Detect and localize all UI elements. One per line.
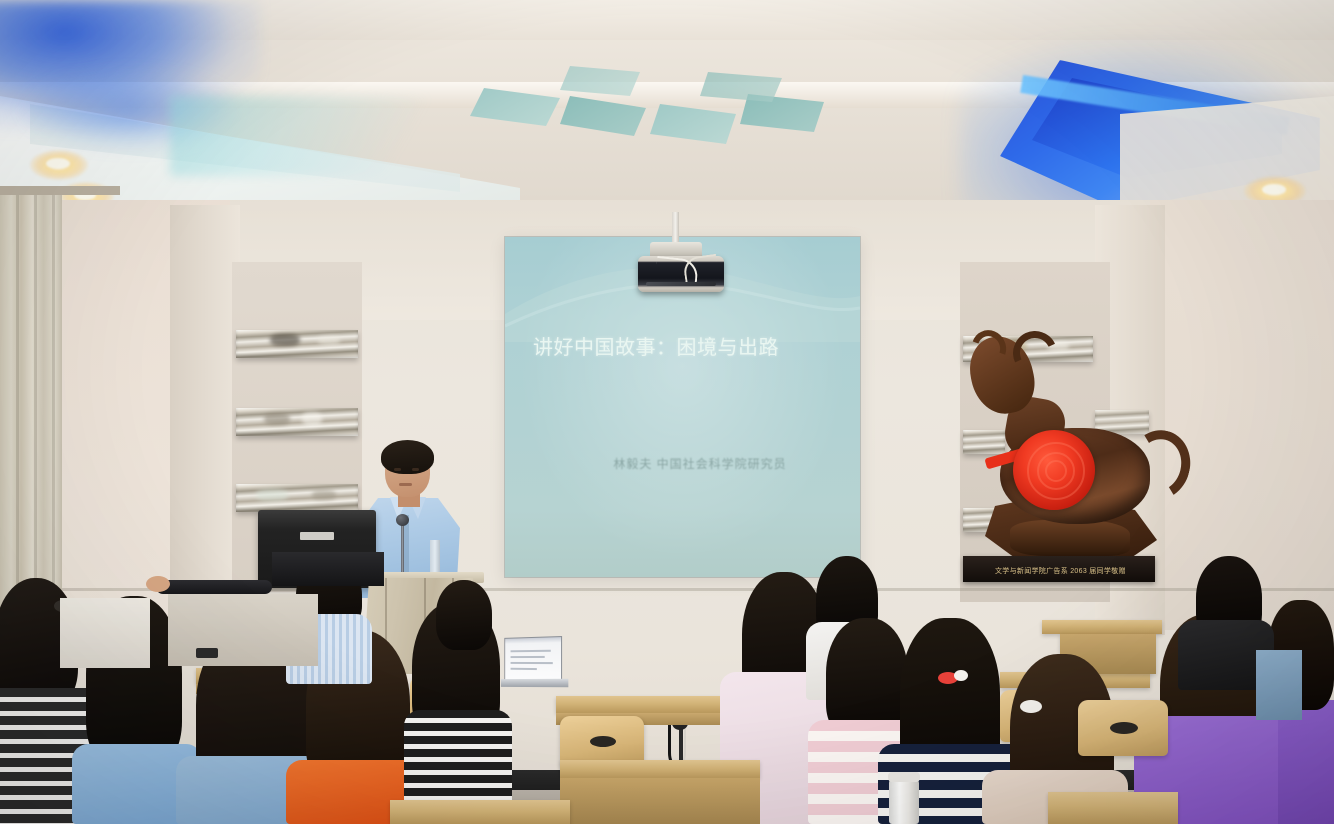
lecture-hall-photo: 讲好中国故事：困境与出路 林毅夫 中国社会科学院研究员 文学与新闻学院广告系 2… <box>0 0 1334 824</box>
audience-arm-left <box>156 580 272 594</box>
hair-clip-white <box>954 670 968 681</box>
chrome-shelf-3 <box>236 484 358 512</box>
chair-row2-right[interactable] <box>1078 700 1168 756</box>
plaque-inscription: 文学与新闻学院广告系 2063 届同学敬赠 <box>995 566 1145 578</box>
stage-panel-vent <box>196 648 218 658</box>
chrome-shelf-2 <box>236 408 358 436</box>
curtain-rod <box>0 186 120 195</box>
slide-title: 讲好中国故事：困境与出路 <box>533 331 833 361</box>
speaker-eye-right <box>412 468 419 471</box>
chrome-shelf-1 <box>236 330 358 358</box>
speaker-eye-left <box>394 468 401 471</box>
slide-subtitle: 林毅夫 中国社会科学院研究员 <box>575 455 825 473</box>
stage-front-panel <box>168 594 318 666</box>
desk-front-left <box>390 800 570 824</box>
chrome-shelf-5 <box>963 430 1005 454</box>
student-laptop-screen <box>504 636 562 684</box>
speaker-hair <box>381 440 434 474</box>
cove-light-cyan-left <box>170 96 500 176</box>
white-thermos <box>889 778 919 824</box>
speaker-mouth <box>399 483 412 486</box>
hair-clip-white-2 <box>1020 700 1042 713</box>
audience-torso-back-left <box>272 552 384 586</box>
monitor-badge <box>300 532 334 540</box>
sculpture-wood-base-detail <box>1010 520 1130 556</box>
projector-mount-pole <box>672 212 679 246</box>
desk-far-right <box>1042 620 1162 634</box>
audience-hand-left <box>146 576 170 592</box>
desk-front-right <box>1048 792 1178 824</box>
thermos-cap <box>888 772 920 782</box>
desk-front-center <box>560 760 760 778</box>
audience-torso-17 <box>1256 650 1302 720</box>
audience-head-8 <box>436 580 492 650</box>
projector-lens-strip <box>646 282 716 286</box>
desk-front-center-panel <box>560 778 760 824</box>
student-laptop-base <box>501 679 568 687</box>
downlight-3-core <box>1262 184 1286 195</box>
wall-column-left <box>170 205 240 625</box>
red-flower-ribbon <box>1013 430 1095 510</box>
podium-microphone-stem <box>401 520 404 580</box>
podium-microphone-head <box>396 514 409 526</box>
downlight-1-core <box>46 158 70 169</box>
back-wall-panel-low <box>60 598 150 668</box>
